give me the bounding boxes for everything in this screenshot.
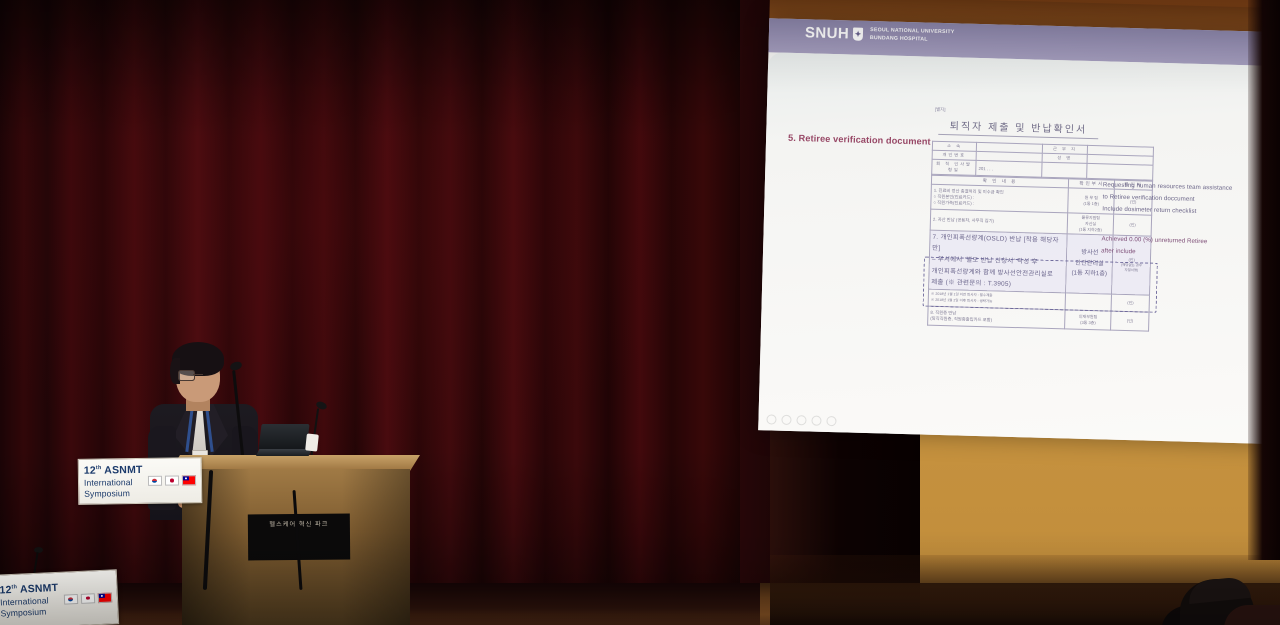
- form-title: 퇴직자 제출 및 반납확인서: [938, 117, 1098, 139]
- foreground-event-number: 12: [0, 584, 12, 597]
- laptop: [256, 424, 312, 458]
- japan-flag-icon: [165, 475, 179, 485]
- venue-name-label: 헬스케어 혁신 파크: [248, 514, 350, 529]
- menu-icon[interactable]: [796, 415, 806, 425]
- glasses-lens-right: [178, 370, 195, 381]
- podium-sign-line2: International Symposium: [84, 477, 143, 499]
- field-value: [1086, 163, 1153, 180]
- snuh-logo: SNUH ✦ SEOUL NATIONAL UNIVERSITY BUNDANG…: [805, 25, 955, 44]
- south-korea-flag-icon: [148, 476, 162, 486]
- field-label: 퇴 직 인사발령일: [932, 159, 977, 175]
- snuh-org-line2: BUNDANG HOSPITAL: [870, 34, 928, 42]
- presentation-controls[interactable]: [766, 414, 836, 426]
- wall-right-dark-edge: [1248, 0, 1280, 560]
- conference-presentation-photo: SNUH ✦ SEOUL NATIONAL UNIVERSITY BUNDANG…: [0, 0, 1280, 625]
- projected-slide: SNUH ✦ SEOUL NATIONAL UNIVERSITY BUNDANG…: [758, 18, 1280, 444]
- taiwan-flag-icon: [98, 592, 112, 603]
- desk-object: [305, 433, 319, 451]
- event-acronym: ASNMT: [101, 464, 142, 477]
- japan-flag-icon: [81, 593, 95, 604]
- previous-slide-icon[interactable]: [766, 414, 776, 424]
- field-label: [1042, 162, 1087, 178]
- foreground-sign-line2: International Symposium: [0, 595, 60, 619]
- taiwan-flag-icon: [182, 475, 196, 485]
- pen-icon[interactable]: [781, 415, 791, 425]
- snuh-wordmark: SNUH: [805, 25, 849, 41]
- glasses-bridge: [193, 374, 203, 375]
- row-content: 8. 직원증 반납 (퇴직직원증, 직원증출입카드 포함): [928, 306, 1065, 329]
- south-korea-flag-icon: [64, 594, 78, 605]
- laptop-screen: [258, 424, 309, 450]
- annotation-hr-assistance: Requesting human resources team assistan…: [1102, 179, 1265, 219]
- sign-note-2: 자필서명): [1115, 268, 1148, 274]
- slide-body: 5. Retiree verification document [별지] 퇴직…: [758, 52, 1280, 444]
- projection-screen: SNUH ✦ SEOUL NATIONAL UNIVERSITY BUNDANG…: [748, 0, 1280, 458]
- podium-sign-line1: 12th ASNMT: [84, 464, 143, 478]
- note-dept: [1065, 293, 1112, 311]
- foreground-flag-group: [64, 592, 112, 604]
- foreground-podium-sign: 12th ASNMT International Symposium: [0, 569, 119, 625]
- event-number: 12: [84, 464, 96, 476]
- row-dept: 물류지원팀 자산실 (1동 지하2층): [1067, 213, 1114, 235]
- row-content: 1. 진료비 정산 종결처리 및 미수금 확인 ○ 직원본인(진료카드) : ○…: [931, 184, 1069, 213]
- annotation-achievement: Achieved 0.00 (%) unreturned Retiree aft…: [1101, 233, 1264, 261]
- highlight-content: 7. 개인피폭선량계(OSLD) 반납 [착용 해당자만] – 부서에서 '별도…: [929, 230, 1068, 293]
- podium-sign: 12th ASNMT International Symposium: [78, 457, 203, 505]
- row-dept: 인재부원팀 (3동 3층): [1065, 310, 1112, 330]
- next-slide-icon[interactable]: [826, 416, 836, 426]
- form-tag: [별지]: [935, 107, 946, 113]
- speaker-glasses: [178, 370, 218, 379]
- field-value: 201 . . .: [976, 160, 1043, 177]
- shield-icon: ✦: [853, 28, 863, 41]
- highlight-dept-line3: (1동 지하1층): [1068, 269, 1110, 281]
- podium-sign-text: 12th ASNMT International Symposium: [84, 464, 143, 499]
- zoom-icon[interactable]: [811, 416, 821, 426]
- flag-group: [148, 475, 196, 486]
- laptop-keyboard: [256, 449, 312, 456]
- foreground-sign-text: 12th ASNMT International Symposium: [0, 582, 60, 619]
- foreground-event-acronym: ASNMT: [17, 582, 59, 596]
- slide-title: 5. Retiree verification document: [788, 133, 931, 147]
- snuh-org-name: SEOUL NATIONAL UNIVERSITY BUNDANG HOSPIT…: [870, 27, 955, 43]
- note-sign: (인): [1111, 294, 1149, 312]
- row-sign: (인): [1111, 311, 1149, 331]
